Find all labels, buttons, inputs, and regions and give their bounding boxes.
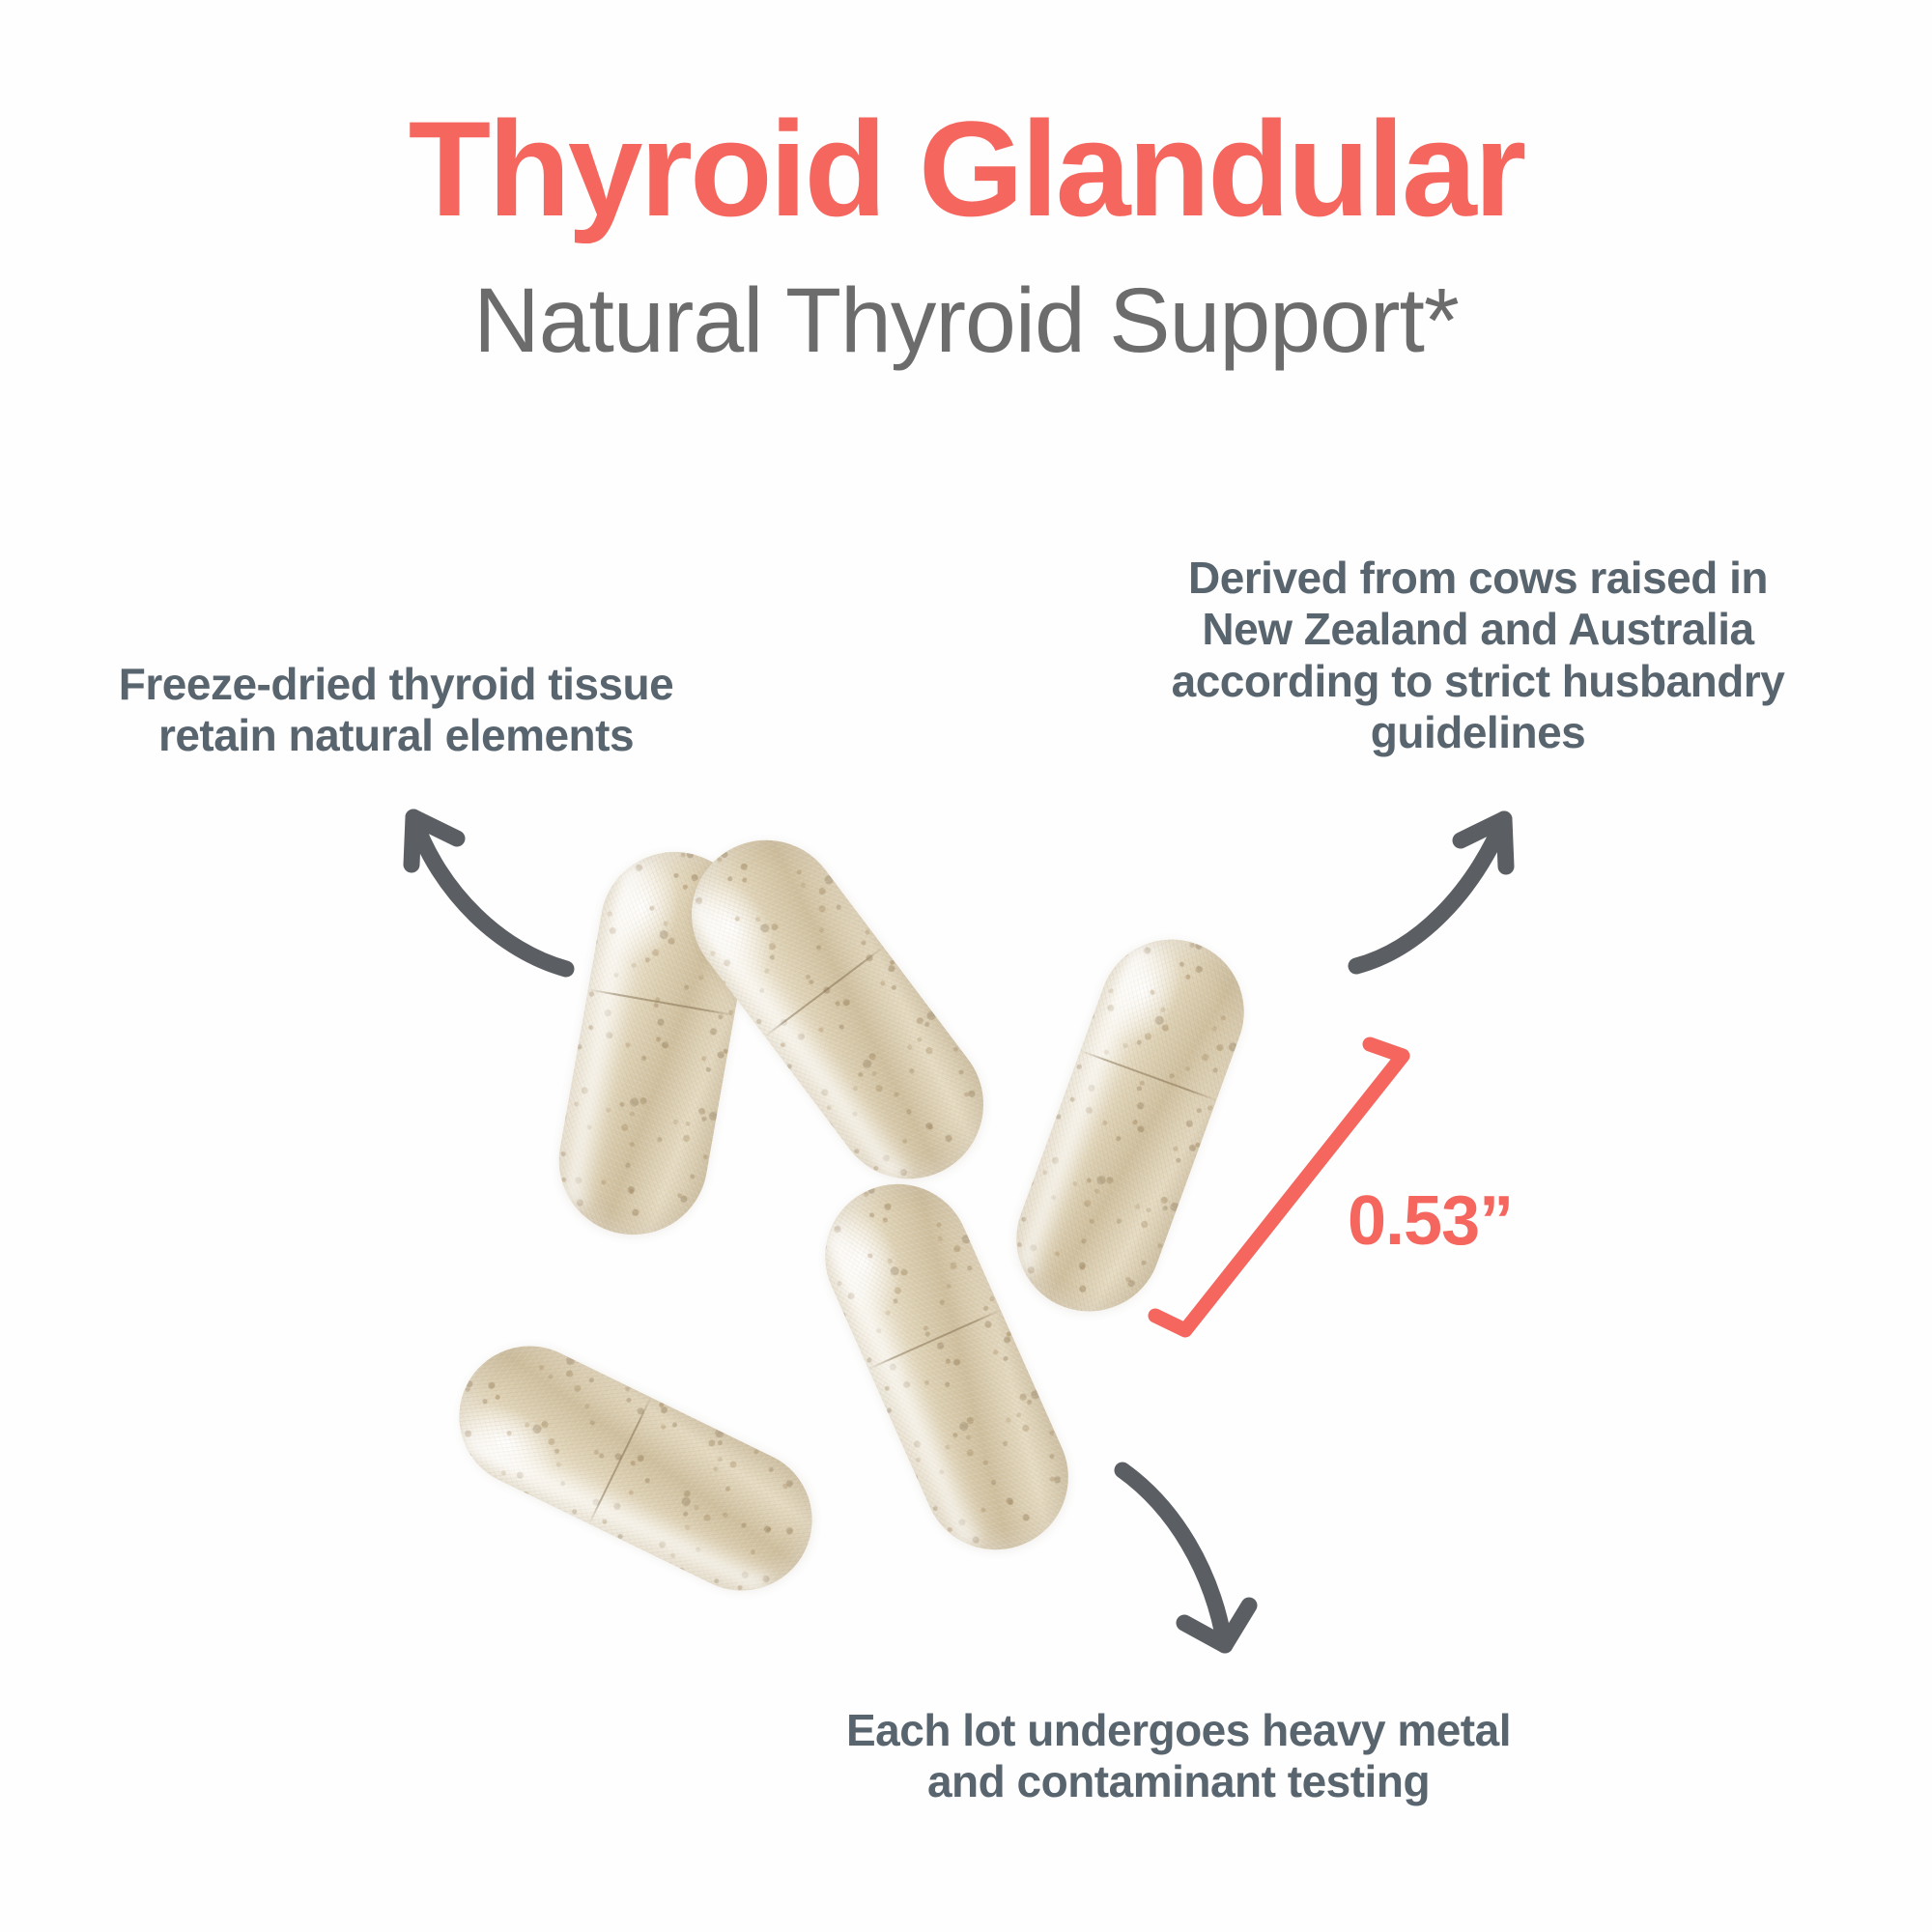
callout-line: and contaminant testing [763,1756,1594,1807]
page-subtitle: Natural Thyroid Support* [0,275,1932,367]
freeze-dried-callout: Freeze-dried thyroid tissue retain natur… [58,659,734,762]
callout-line: Each lot undergoes heavy metal [763,1705,1594,1756]
infographic-canvas: Thyroid Glandular Natural Thyroid Suppor… [0,0,1932,1932]
sourcing-callout: Derived from cows raised in New Zealand … [1111,553,1845,758]
arrow-to-sourcing-icon [1356,819,1506,966]
callout-line: Derived from cows raised in [1111,553,1845,604]
callout-line: Freeze-dried thyroid tissue [58,659,734,710]
callout-line: New Zealand and Australia [1111,604,1845,655]
measurement-label: 0.53” [1348,1186,1513,1256]
capsule-image [996,919,1264,1331]
callout-line: guidelines [1111,707,1845,758]
page-title: Thyroid Glandular [0,101,1932,237]
arrow-to-testing-icon [1122,1470,1249,1645]
callout-line: according to strict husbandry [1111,656,1845,707]
arrow-to-freeze-dried-icon [412,817,566,969]
capsule-grain [436,1322,837,1614]
capsule-image [436,1322,837,1614]
callout-line: retain natural elements [58,710,734,761]
testing-callout: Each lot undergoes heavy metal and conta… [763,1705,1594,1808]
